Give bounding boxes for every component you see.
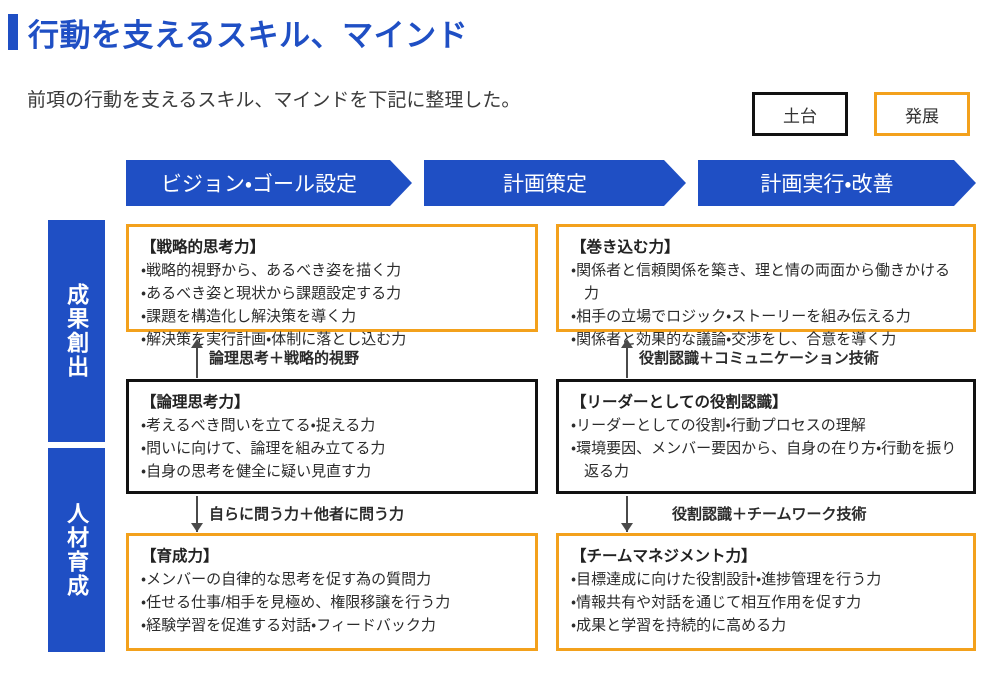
legend-growth: 発展 xyxy=(874,92,970,136)
card-involvement-title: 【巻き込む力】 xyxy=(571,236,963,259)
card-leader-role-awareness: 【リーダーとしての役割認識】 リーダーとしての役割・行動プロセスの理解 環境要因… xyxy=(556,379,976,494)
phase-header-plan: 計画策定 xyxy=(424,160,686,206)
legend-foundation-label: 土台 xyxy=(783,102,817,127)
list-item: 目標達成に向けた役割設計・進捗管理を行う力 xyxy=(571,569,963,592)
card-strategic-thinking: 【戦略的思考力】 戦略的視野から、あるべき姿を描く力 あるべき姿と現状から課題設… xyxy=(126,224,538,332)
list-item: 相手の立場でロジック・ストーリーを組み伝える力 xyxy=(571,306,963,329)
phase-header-plan-label: 計画策定 xyxy=(503,168,587,198)
card-logical-thinking-title: 【論理思考力】 xyxy=(141,391,525,414)
card-leader-role-awareness-title: 【リーダーとしての役割認識】 xyxy=(571,391,963,414)
list-item: 情報共有や対話を通じて相互作用を促す力 xyxy=(571,592,963,615)
card-team-management-list: 目標達成に向けた役割設計・進捗管理を行う力 情報共有や対話を通じて相互作用を促す… xyxy=(571,569,963,637)
subtitle-text: 前項の行動を支えるスキル、マインドを下記に整理した。 xyxy=(27,85,520,112)
list-item: メンバーの自律的な思考を促す為の質問力 xyxy=(141,569,525,592)
list-item: リーダーとしての役割・行動プロセスの理解 xyxy=(571,415,963,438)
arrow-up-icon xyxy=(621,339,633,348)
phase-header-execution: 計画実行・改善 xyxy=(698,160,976,206)
arrow-up-icon xyxy=(191,339,203,348)
page-title: 行動を支えるスキル、マインド xyxy=(28,10,468,55)
card-development-ability-list: メンバーの自律的な思考を促す為の質問力 任せる仕事/相手を見極め、権限移譲を行う… xyxy=(141,569,525,637)
card-involvement: 【巻き込む力】 関係者と信頼関係を築き、理と情の両面から働きかける力 相手の立場… xyxy=(556,224,976,332)
card-development-ability-title: 【育成力】 xyxy=(141,545,525,568)
category-bar-results-label: 成果創出 xyxy=(64,283,89,379)
card-logical-thinking-list: 考えるべき問いを立てる・捉える力 問いに向けて、論理を組み立てる力 自身の思考を… xyxy=(141,415,525,483)
connector-label-left-down: 自らに問う力＋他者に問う力 xyxy=(209,503,404,524)
card-team-management-title: 【チームマネジメント力】 xyxy=(571,545,963,568)
list-item: あるべき姿と現状から課題設定する力 xyxy=(141,283,525,306)
list-item: 戦略的視野から、あるべき姿を描く力 xyxy=(141,260,525,283)
list-item: 成果と学習を持続的に高める力 xyxy=(571,615,963,638)
category-bar-people: 人材育成 xyxy=(48,448,105,652)
slide-canvas: 行動を支えるスキル、マインド 前項の行動を支えるスキル、マインドを下記に整理した… xyxy=(0,0,1000,679)
connector-label-left-up: 論理思考＋戦略的視野 xyxy=(209,347,359,368)
category-bar-people-label: 人材育成 xyxy=(64,502,89,598)
list-item: 課題を構造化し解決策を導く力 xyxy=(141,306,525,329)
list-item: 問いに向けて、論理を組み立てる力 xyxy=(141,438,525,461)
phase-header-vision: ビジョン・ゴール設定 xyxy=(126,160,412,206)
card-team-management: 【チームマネジメント力】 目標達成に向けた役割設計・進捗管理を行う力 情報共有や… xyxy=(556,533,976,651)
card-strategic-thinking-title: 【戦略的思考力】 xyxy=(141,236,525,259)
card-leader-role-awareness-list: リーダーとしての役割・行動プロセスの理解 環境要因、メンバー要因から、自身の在り… xyxy=(571,415,963,483)
list-item: 任せる仕事/相手を見極め、権限移譲を行う力 xyxy=(141,592,525,615)
card-development-ability: 【育成力】 メンバーの自律的な思考を促す為の質問力 任せる仕事/相手を見極め、権… xyxy=(126,533,538,651)
legend-foundation: 土台 xyxy=(752,92,848,136)
connector-label-right-down: 役割認識＋チームワーク技術 xyxy=(672,503,867,524)
arrow-down-icon xyxy=(191,523,203,532)
card-involvement-list: 関係者と信頼関係を築き、理と情の両面から働きかける力 相手の立場でロジック・スト… xyxy=(571,260,963,351)
card-logical-thinking: 【論理思考力】 考えるべき問いを立てる・捉える力 問いに向けて、論理を組み立てる… xyxy=(126,379,538,494)
list-item: 自身の思考を健全に疑い見直す力 xyxy=(141,461,525,484)
phase-header-vision-label: ビジョン・ゴール設定 xyxy=(161,168,357,198)
list-item: 経験学習を促進する対話・フィードバック力 xyxy=(141,615,525,638)
list-item: 考えるべき問いを立てる・捉える力 xyxy=(141,415,525,438)
category-bar-results: 成果創出 xyxy=(48,220,105,442)
phase-header-execution-label: 計画実行・改善 xyxy=(760,168,893,198)
arrow-down-icon xyxy=(621,523,633,532)
card-strategic-thinking-list: 戦略的視野から、あるべき姿を描く力 あるべき姿と現状から課題設定する力 課題を構… xyxy=(141,260,525,351)
connector-label-right-up: 役割認識＋コミュニケーション技術 xyxy=(639,347,879,368)
list-item: 関係者と信頼関係を築き、理と情の両面から働きかける力 xyxy=(571,260,963,306)
list-item: 環境要因、メンバー要因から、自身の在り方・行動を振り返る力 xyxy=(571,438,963,484)
legend-growth-label: 発展 xyxy=(905,102,939,127)
title-accent-bar xyxy=(8,14,18,50)
